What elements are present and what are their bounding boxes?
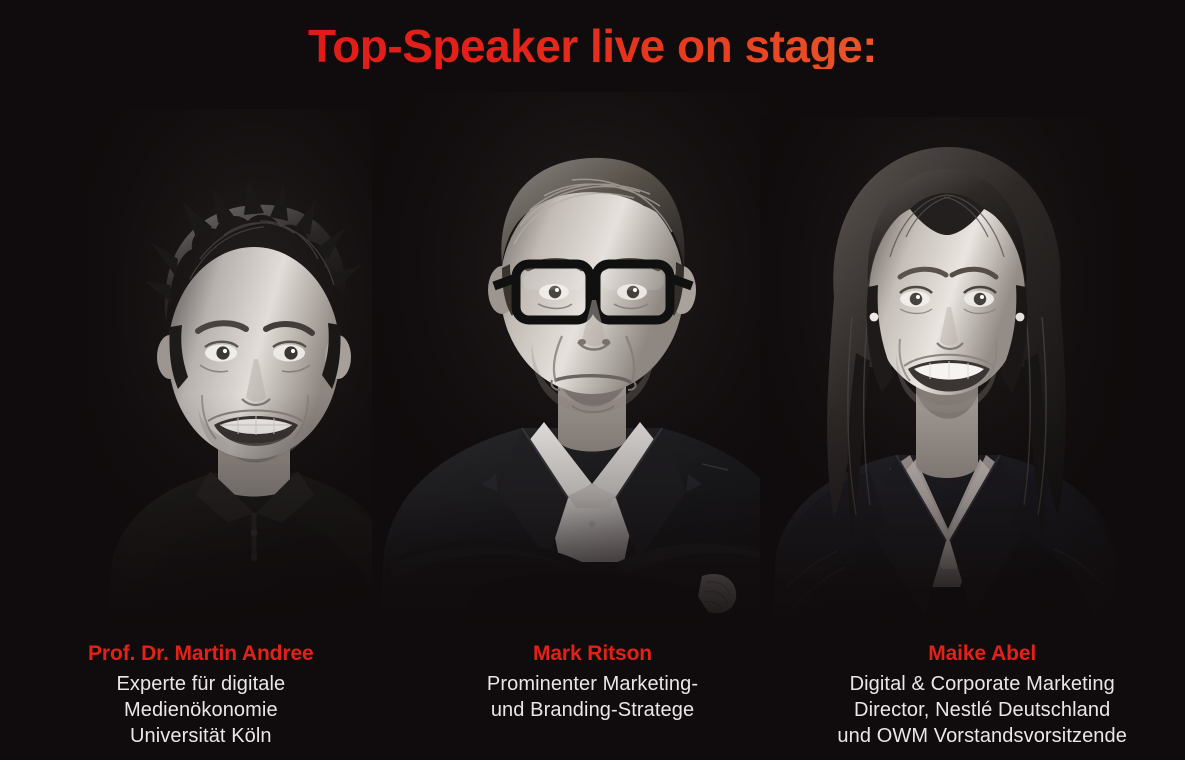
speaker-name-3: Maike Abel — [787, 642, 1177, 666]
speaker-role-3: Digital & Corporate Marketing Director, … — [787, 671, 1177, 749]
speaker-lineup-banner: Top-Speaker live on stage: — [0, 0, 1185, 760]
speaker-role-2: Prominenter Marketing- und Branding-Stra… — [398, 671, 788, 723]
speaker-caption-3: Maike Abel Digital & Corporate Marketing… — [787, 630, 1185, 760]
speaker-name-2: Mark Ritson — [398, 642, 788, 666]
portrait-maike-abel — [760, 117, 1132, 637]
portrait-row — [0, 92, 1185, 637]
speaker-name-1: Prof. Dr. Martin Andree — [6, 642, 396, 666]
page-title: Top-Speaker live on stage: — [308, 23, 877, 69]
speaker-caption-1: Prof. Dr. Martin Andree Experte für digi… — [0, 630, 396, 760]
speaker-role-1: Experte für digitale Medienökonomie Univ… — [6, 671, 396, 749]
portrait-mark-ritson — [372, 92, 812, 637]
speaker-caption-2: Mark Ritson Prominenter Marketing- und B… — [396, 630, 788, 760]
headline-container: Top-Speaker live on stage: — [0, 0, 1185, 92]
speaker-captions: Prof. Dr. Martin Andree Experte für digi… — [0, 630, 1185, 760]
